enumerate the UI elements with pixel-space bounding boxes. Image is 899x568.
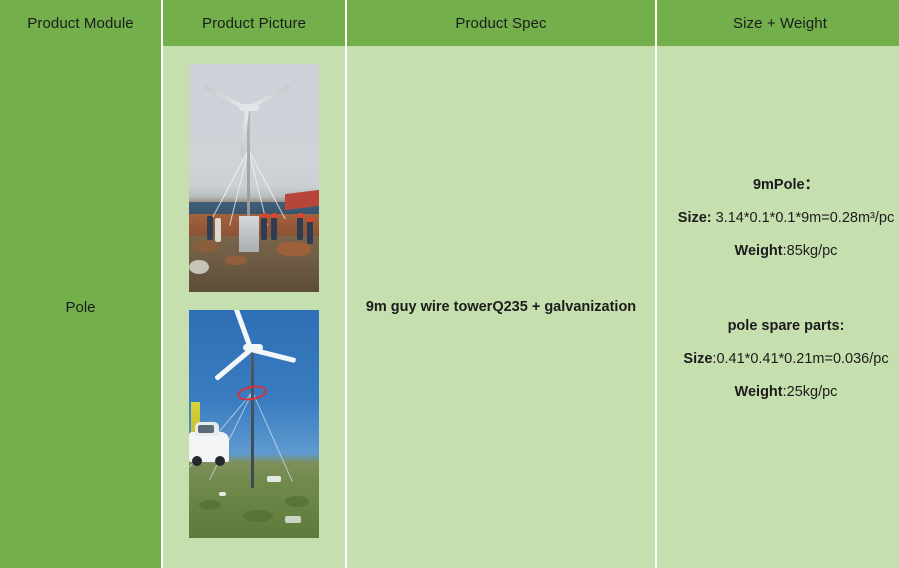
cell-product-module: Pole — [0, 46, 161, 568]
product-photo-tower-construction — [189, 64, 319, 292]
table-header-row: Product Module Product Picture Product S… — [0, 0, 899, 46]
spare-parts-weight-label: Weight — [735, 384, 783, 400]
pole-weight-label: Weight — [735, 243, 783, 259]
table-row: Pole — [0, 46, 899, 568]
pole-weight-value: :85kg/pc — [783, 243, 838, 259]
spare-parts-heading: pole spare parts: — [657, 310, 899, 343]
cell-size-weight: 9mPole： Size: 3.14*0.1*0.1*9m=0.28m³/pc … — [657, 46, 899, 568]
header-product-picture: Product Picture — [163, 0, 345, 46]
pole-size-line: Size: 3.14*0.1*0.1*9m=0.28m³/pc — [657, 202, 899, 235]
spare-parts-size-line: Size:0.41*0.41*0.21m=0.036/pc — [657, 343, 899, 376]
product-spec-table: Product Module Product Picture Product S… — [0, 0, 899, 568]
header-product-module: Product Module — [0, 0, 161, 46]
product-module-label: Pole — [65, 299, 95, 316]
size-weight-group-spare-parts: pole spare parts: Size:0.41*0.41*0.21m=0… — [657, 310, 899, 409]
pole-weight-line: Weight:85kg/pc — [657, 235, 899, 268]
spare-parts-size-label: Size — [683, 351, 712, 367]
pole-size-value: 3.14*0.1*0.1*9m=0.28m³/pc — [712, 210, 895, 226]
spare-parts-weight-value: :25kg/pc — [783, 384, 838, 400]
pole-size-label: Size: — [678, 210, 712, 226]
product-photo-tower-field — [189, 310, 319, 538]
cell-product-spec: 9m guy wire towerQ235 + galvanization — [347, 46, 655, 568]
annotation-circle — [236, 384, 268, 403]
size-weight-group-pole: 9mPole： Size: 3.14*0.1*0.1*9m=0.28m³/pc … — [657, 169, 899, 268]
pole-heading: 9mPole： — [657, 169, 899, 202]
cell-product-picture — [163, 46, 345, 568]
header-size-weight: Size + Weight — [657, 0, 899, 46]
header-product-spec: Product Spec — [347, 0, 655, 46]
spare-parts-size-value: :0.41*0.41*0.21m=0.036/pc — [712, 351, 888, 367]
spare-parts-weight-line: Weight:25kg/pc — [657, 376, 899, 409]
product-spec-text: 9m guy wire towerQ235 + galvanization — [366, 299, 636, 315]
